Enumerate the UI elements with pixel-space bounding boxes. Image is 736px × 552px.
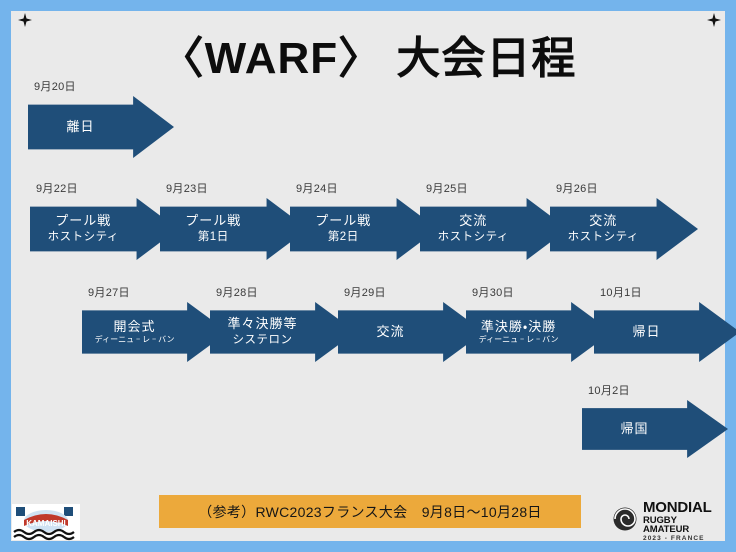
- mondial-logo-line3: 2023 - FRANCE: [643, 536, 724, 543]
- schedule-arrow: 離日: [28, 96, 174, 158]
- mondial-logo-wordmark: MONDIAL RUGBY AMATEUR 2023 - FRANCE: [643, 500, 724, 543]
- mondial-rugby-amateur-logo: MONDIAL RUGBY AMATEUR 2023 - FRANCE: [612, 502, 724, 540]
- arrow-shape: [466, 302, 612, 362]
- date-label: 9月23日: [166, 180, 208, 196]
- arrow-shape: [290, 198, 438, 260]
- schedule-arrow: 交流ホストシティ: [420, 198, 568, 260]
- reference-banner-text: （参考）RWC2023フランス大会 9月8日〜10月28日: [198, 502, 541, 522]
- arrow-shape: [28, 96, 174, 158]
- schedule-arrow: 交流ホストシティ: [550, 198, 698, 260]
- arrow-shape: [210, 302, 356, 362]
- schedule-arrow: プール戦ホストシティ: [30, 198, 178, 260]
- schedule-arrow: 帰国: [582, 400, 728, 458]
- arrow-shape: [550, 198, 698, 260]
- reference-banner: （参考）RWC2023フランス大会 9月8日〜10月28日: [159, 495, 581, 528]
- arrow-shape: [338, 302, 484, 362]
- schedule-arrow: プール戦第2日: [290, 198, 438, 260]
- rugby-ball-swirl-icon: [612, 506, 638, 537]
- date-label: 10月2日: [588, 382, 630, 398]
- slide-root: 〈WARF〉 大会日程 9月20日離日9月22日プール戦ホストシティ9月23日プ…: [0, 0, 736, 552]
- date-label: 9月30日: [472, 284, 514, 300]
- mondial-logo-line1: MONDIAL: [643, 500, 724, 515]
- arrow-shape: [594, 302, 736, 362]
- date-label: 9月27日: [88, 284, 130, 300]
- schedule-arrow: プール戦第1日: [160, 198, 308, 260]
- date-label: 9月28日: [216, 284, 258, 300]
- mondial-logo-line2: RUGBY AMATEUR: [643, 516, 724, 535]
- date-label: 10月1日: [600, 284, 642, 300]
- date-label: 9月26日: [556, 180, 598, 196]
- schedule-arrow: 準決勝・決勝ディーニュ゠レ゠バン: [466, 302, 612, 362]
- arrow-shape: [160, 198, 308, 260]
- date-label: 9月29日: [344, 284, 386, 300]
- arrow-shape: [420, 198, 568, 260]
- svg-text:KAMAISHI: KAMAISHI: [26, 519, 66, 528]
- schedule-arrow: 帰日: [594, 302, 736, 362]
- date-label: 9月22日: [36, 180, 78, 196]
- arrow-shape: [30, 198, 178, 260]
- date-label: 9月25日: [426, 180, 468, 196]
- date-label: 9月24日: [296, 180, 338, 196]
- page-title: 〈WARF〉 大会日程: [0, 22, 736, 86]
- kamaishi-city-logo: KAMAISHI: [10, 500, 82, 544]
- slide-panel: [11, 11, 725, 541]
- schedule-arrow: 準々決勝等システロン: [210, 302, 356, 362]
- arrow-shape: [582, 400, 728, 458]
- date-label: 9月20日: [34, 78, 76, 94]
- schedule-arrow: 交流: [338, 302, 484, 362]
- schedule-arrow: 開会式ディーニュ゠レ゠バン: [82, 302, 228, 362]
- arrow-shape: [82, 302, 228, 362]
